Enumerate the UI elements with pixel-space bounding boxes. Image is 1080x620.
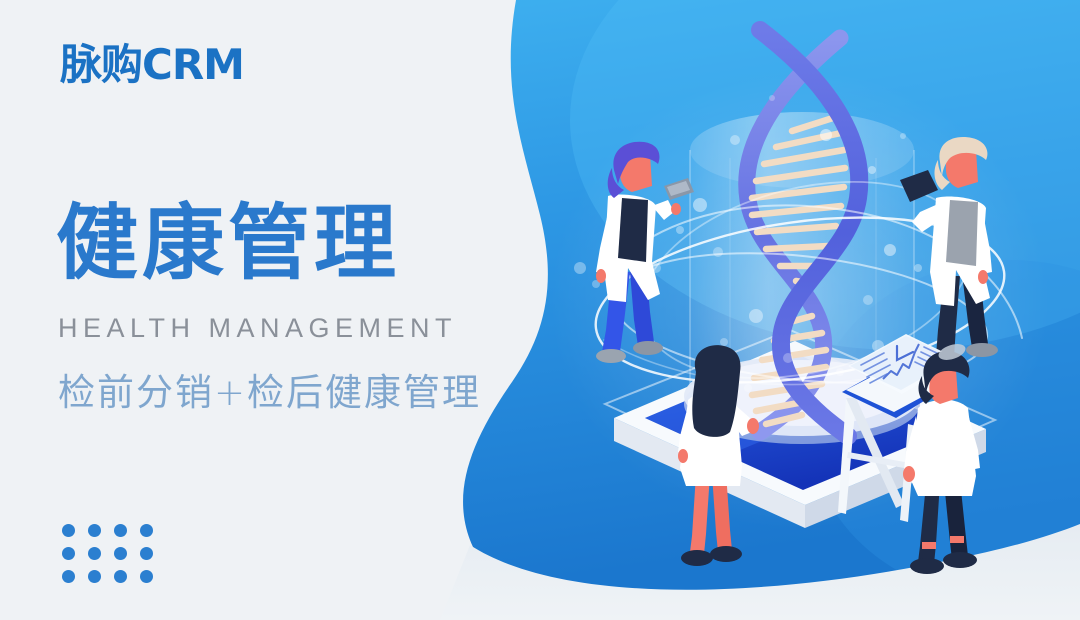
illustration-layer [0, 0, 1080, 620]
banner-root: 脉购CRM 健康管理 HEALTH MANAGEMENT 检前分销+检后健康管理 [0, 0, 1080, 620]
